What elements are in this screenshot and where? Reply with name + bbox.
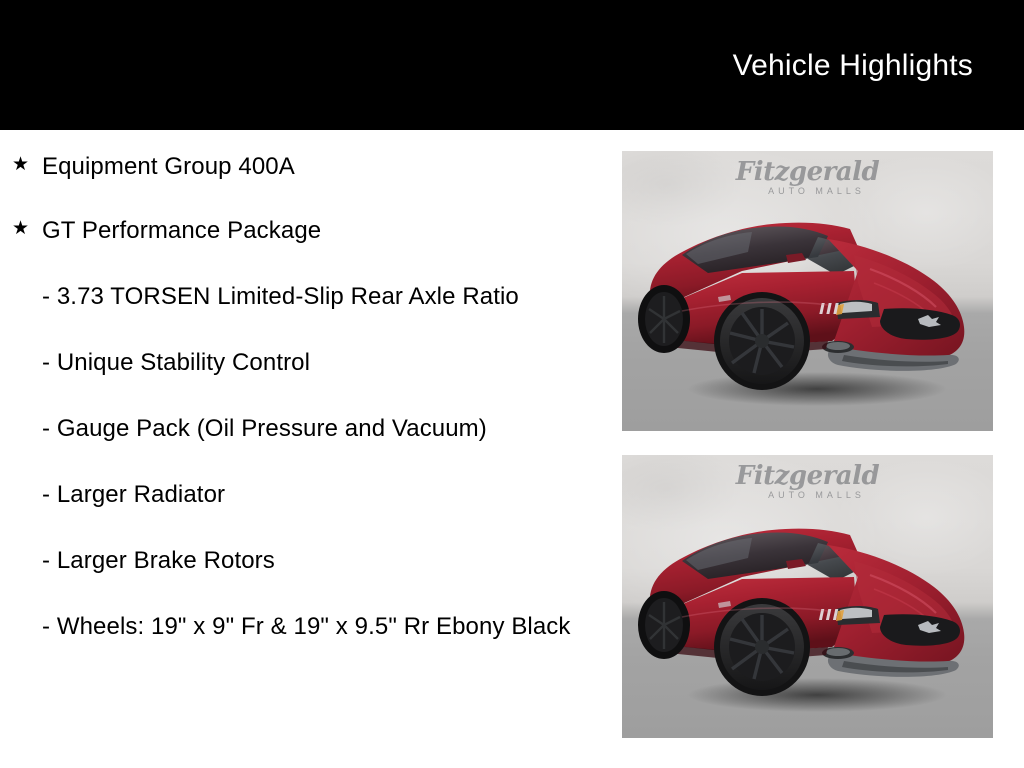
mustang-car-image: [622, 151, 993, 431]
content-area: ★ Equipment Group 400A ★ GT Performance …: [0, 130, 1024, 768]
header-bar: Vehicle Highlights: [0, 0, 1024, 130]
vehicle-highlights-list: ★ Equipment Group 400A ★ GT Performance …: [0, 130, 600, 643]
star-bullet-icon: ★: [12, 150, 29, 180]
list-item-label: - Gauge Pack (Oil Pressure and Vacuum): [42, 415, 487, 442]
list-item: - Gauge Pack (Oil Pressure and Vacuum): [0, 412, 600, 445]
list-item: ★ GT Performance Package: [0, 214, 600, 247]
list-item: - Wheels: 19" x 9" Fr & 19" x 9.5" Rr Eb…: [0, 610, 600, 643]
vehicle-photo-1[interactable]: Fitzgerald AUTO MALLS: [622, 151, 993, 431]
list-item: - Unique Stability Control: [0, 346, 600, 379]
list-item-label: Equipment Group 400A: [42, 153, 295, 180]
list-item-label: - Larger Brake Rotors: [42, 547, 275, 574]
mustang-car-image: [622, 455, 993, 738]
list-item: - Larger Brake Rotors: [0, 544, 600, 577]
vehicle-photo-2[interactable]: Fitzgerald AUTO MALLS: [622, 455, 993, 738]
page-title: Vehicle Highlights: [733, 49, 973, 83]
list-item-label: - Wheels: 19" x 9" Fr & 19" x 9.5" Rr Eb…: [42, 613, 571, 640]
list-item: - Larger Radiator: [0, 478, 600, 511]
list-item-label: - Unique Stability Control: [42, 349, 310, 376]
list-item: - 3.73 TORSEN Limited-Slip Rear Axle Rat…: [0, 280, 600, 313]
star-bullet-icon: ★: [12, 214, 29, 244]
list-item: ★ Equipment Group 400A: [0, 150, 600, 183]
list-item-label: GT Performance Package: [42, 217, 321, 244]
list-item-label: - 3.73 TORSEN Limited-Slip Rear Axle Rat…: [42, 283, 519, 310]
list-item-label: - Larger Radiator: [42, 481, 225, 508]
